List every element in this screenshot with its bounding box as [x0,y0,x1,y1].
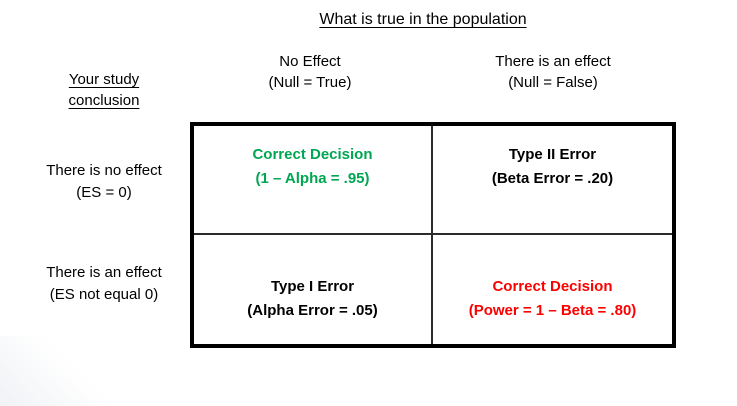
cell-type-ii-error-label: Type II Error [509,143,596,167]
cell-correct-decision-null-true-detail: (1 – Alpha = .95) [255,167,369,191]
row-header-no-effect-line1: There is no effect [46,162,162,179]
cell-type-i-error-label: Type I Error [271,275,354,299]
column-header-no-effect-line1: No Effect [279,53,340,70]
column-header-effect-line1: There is an effect [495,53,611,70]
cell-type-i-error: Type I Error (Alpha Error = .05) [194,235,433,344]
row-header-effect-line1: There is an effect [46,264,162,281]
cell-type-ii-error: Type II Error (Beta Error = .20) [433,126,672,235]
row-header-no-effect: There is no effect (ES = 0) [18,160,190,204]
error-matrix-slide: What is true in the population No Effect… [0,0,737,406]
column-header-effect-line2: (Null = False) [428,72,678,93]
cell-correct-decision-null-true: Correct Decision (1 – Alpha = .95) [194,126,433,235]
row-header-no-effect-line2: (ES = 0) [18,182,190,204]
cell-correct-decision-power-detail: (Power = 1 – Beta = .80) [469,299,637,323]
row-header-effect: There is an effect (ES not equal 0) [18,262,190,306]
study-conclusion-label: Your study conclusion [38,69,170,111]
cell-correct-decision-power-label: Correct Decision [492,275,612,299]
population-title: What is true in the population [283,10,563,30]
column-header-no-effect-line2: (Null = True) [185,72,435,93]
cell-type-i-error-detail: (Alpha Error = .05) [247,299,377,323]
study-conclusion-line2: conclusion [69,90,140,111]
cell-correct-decision-null-true-label: Correct Decision [252,143,372,167]
column-header-no-effect: No Effect (Null = True) [185,51,435,93]
cell-type-ii-error-detail: (Beta Error = .20) [492,167,613,191]
column-header-effect: There is an effect (Null = False) [428,51,678,93]
corner-shading [0,336,120,406]
study-conclusion-line1: Your study [69,69,139,90]
error-matrix-table: Correct Decision (1 – Alpha = .95) Type … [190,122,676,348]
cell-correct-decision-power: Correct Decision (Power = 1 – Beta = .80… [433,235,672,344]
row-header-effect-line2: (ES not equal 0) [18,284,190,306]
